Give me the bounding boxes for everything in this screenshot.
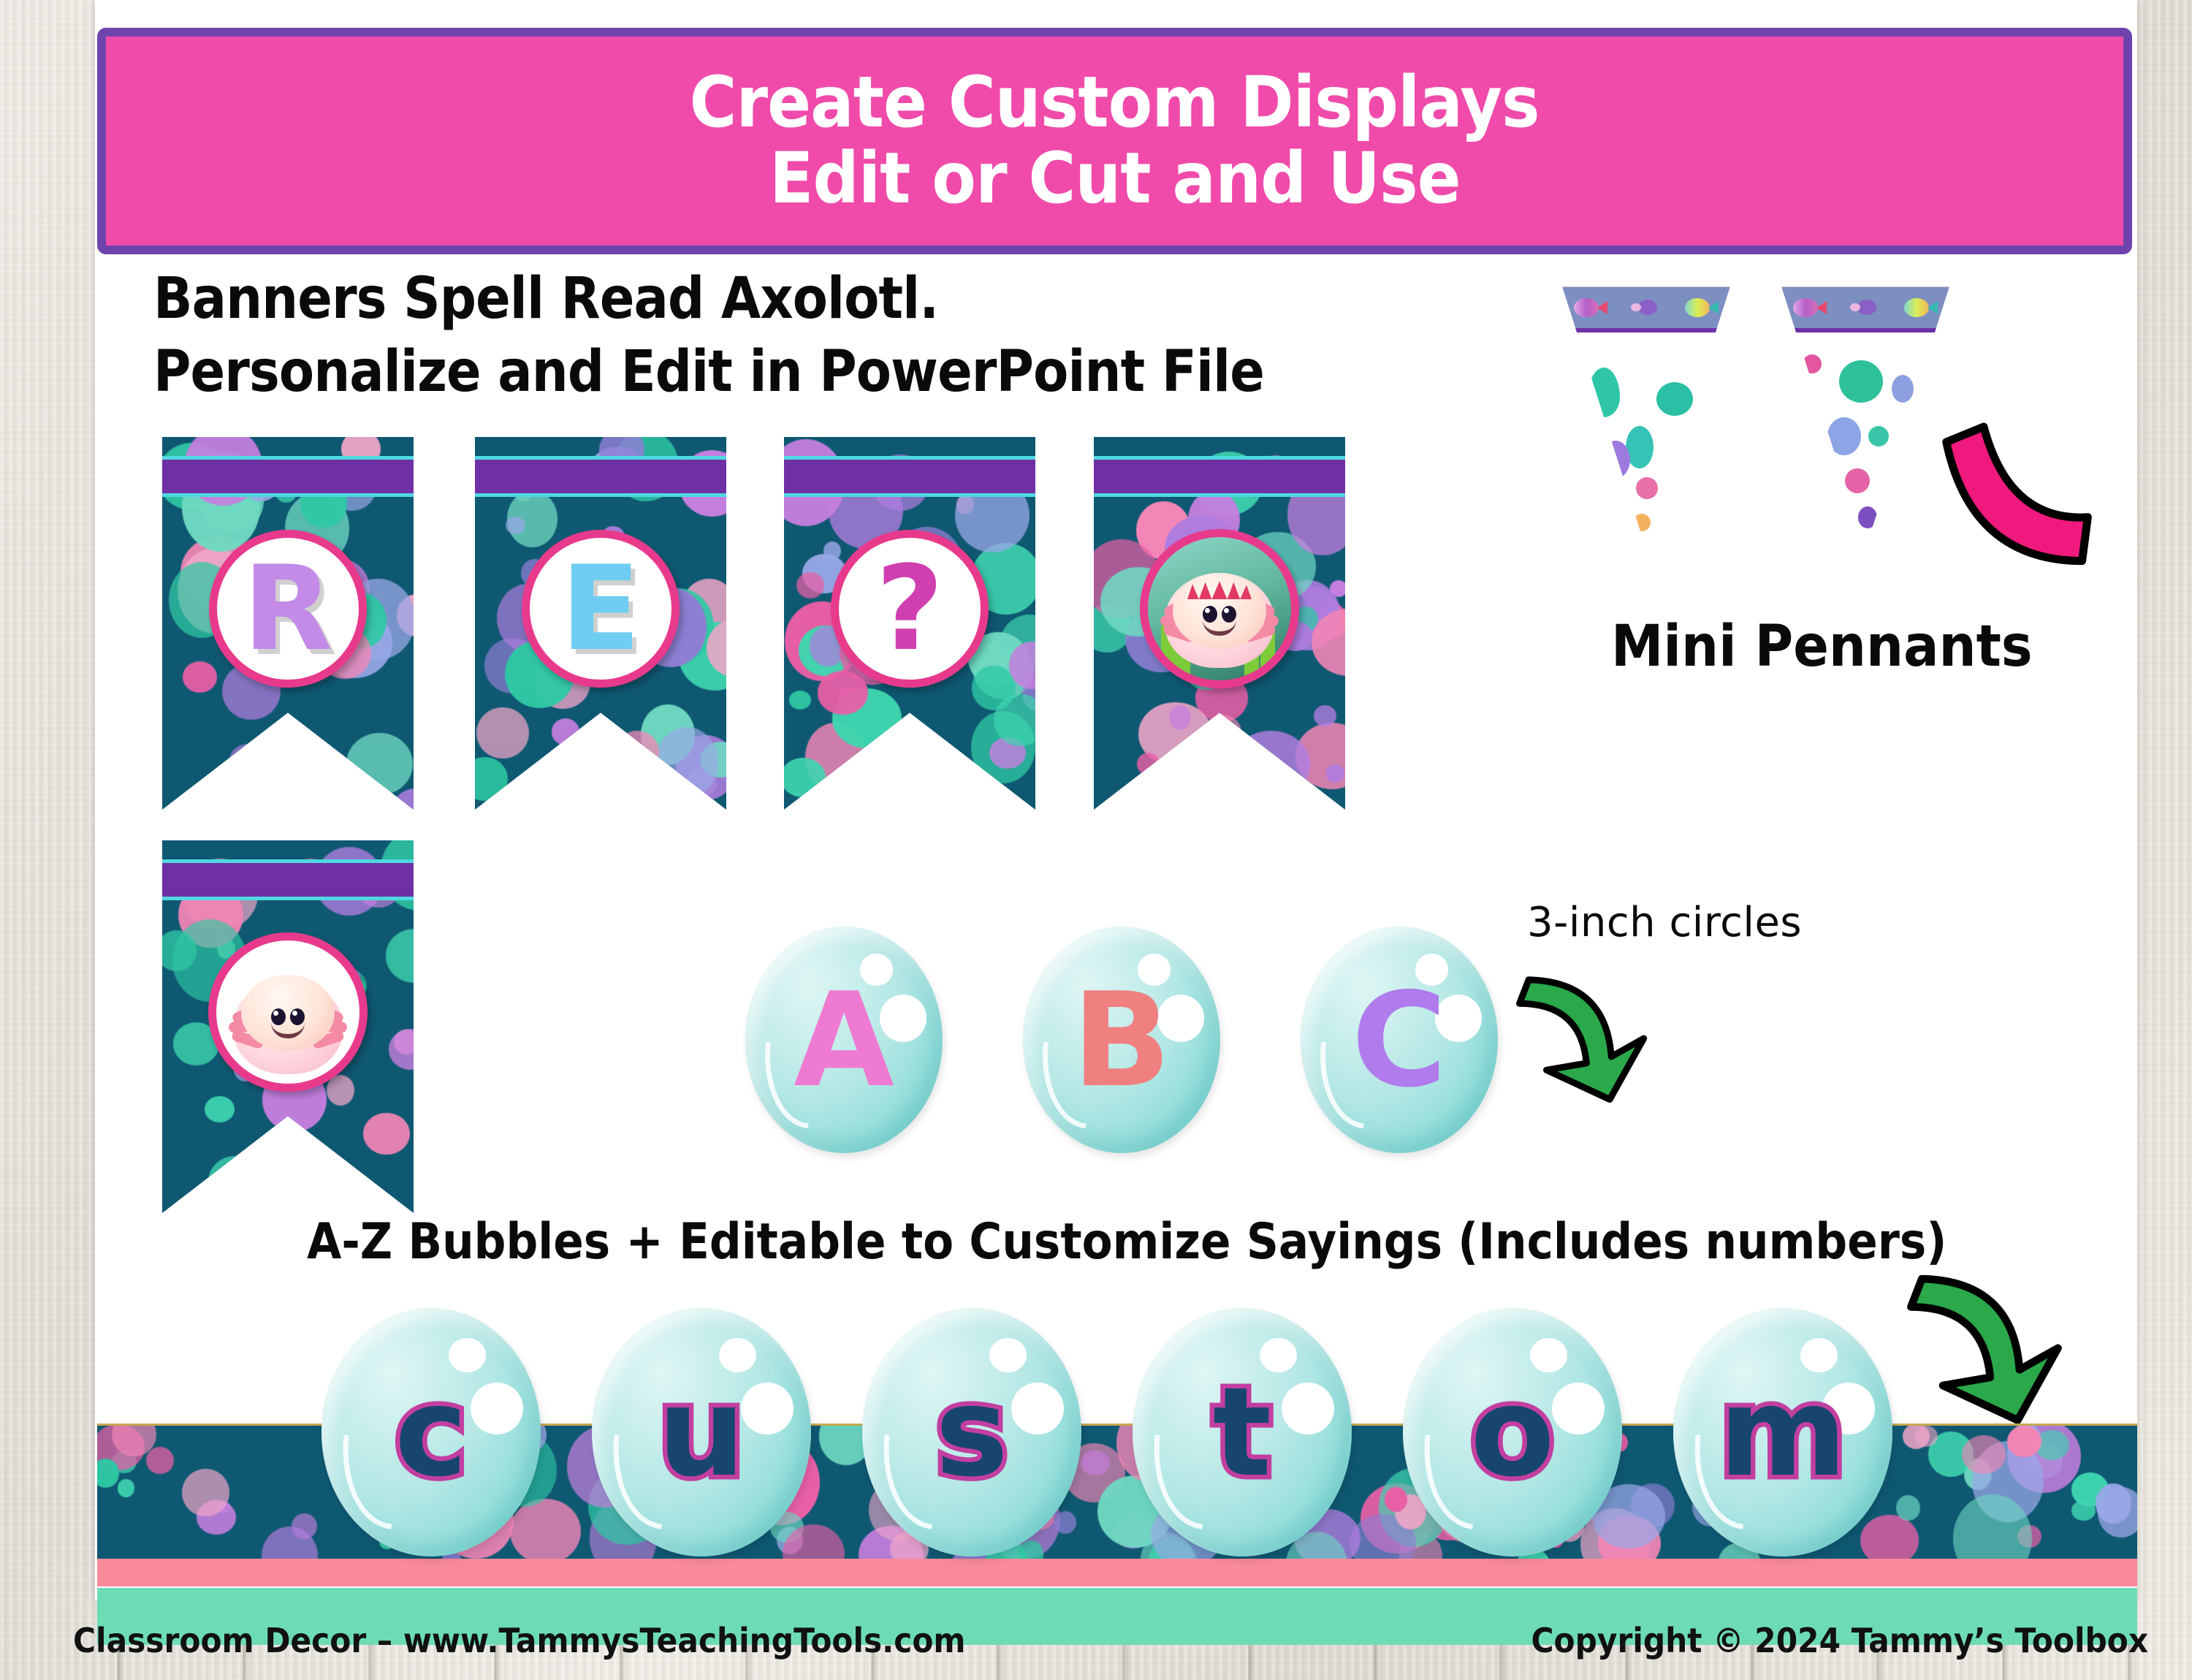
- custom-glyph: c: [395, 1371, 468, 1494]
- header-banner: Create Custom Displays Edit or Cut and U…: [97, 28, 2132, 254]
- flag-top-bar: [475, 456, 726, 497]
- intro-line-2: Personalize and Edit in PowerPoint File: [153, 336, 1403, 409]
- header-title-line-2: Edit or Cut and Use: [769, 141, 1461, 217]
- custom-glyph: m: [1719, 1371, 1846, 1494]
- three-inch-circles-label: 3-inch circles: [1527, 899, 1802, 946]
- custom-glyph: t: [1213, 1371, 1271, 1494]
- fish-icon: [1574, 298, 1607, 317]
- bubble-letter-b: B: [1023, 927, 1220, 1153]
- custom-glyph: u: [658, 1371, 745, 1494]
- footer-right-text: Copyright © 2024 Tammy’s Toolbox: [1531, 1621, 2148, 1660]
- footer-left-text: Classroom Decor – www.TammysTeachingTool…: [73, 1621, 966, 1660]
- intro-line-1: Banners Spell Read Axolotl.: [153, 263, 1403, 336]
- custom-bubble-m: m: [1673, 1308, 1892, 1557]
- intro-text-block: Banners Spell Read Axolotl. Personalize …: [153, 263, 1542, 409]
- custom-glyph: s: [935, 1371, 1008, 1494]
- green-curved-arrow-2: [1907, 1235, 2097, 1425]
- fish-icon: [1793, 298, 1827, 317]
- custom-bubble-o: o: [1403, 1308, 1622, 1557]
- az-bubbles-label: A-Z Bubbles + Editable to Customize Sayi…: [307, 1213, 1946, 1271]
- custom-glyph: o: [1470, 1371, 1554, 1494]
- header-banner-inner: Create Custom Displays Edit or Cut and U…: [106, 37, 2123, 246]
- bubble-letter-c: C: [1301, 927, 1498, 1153]
- flag-top-bar: [162, 456, 414, 497]
- flag-top-bar: [1094, 456, 1345, 497]
- flag-top-bar: [784, 456, 1035, 497]
- bubble-glyph: B: [1072, 965, 1171, 1116]
- custom-bubble-u: u: [592, 1308, 811, 1557]
- pennant-top-band: [1563, 287, 1729, 332]
- axolotl-medallion-plain: [208, 932, 368, 1092]
- flag-glyph: ?: [876, 550, 944, 667]
- fish-icon: [1685, 298, 1719, 317]
- pink-curved-arrow: [1885, 387, 2104, 607]
- mini-pennants-label: Mini Pennants: [1611, 614, 2033, 680]
- flag-medallion: R: [209, 530, 367, 688]
- axolotl-medallion-scene: [1140, 529, 1299, 688]
- bubble-glyph: C: [1352, 965, 1447, 1116]
- turtle-icon: [1629, 298, 1663, 317]
- bottom-pink-stripe: [97, 1559, 2137, 1586]
- flag-top-bar: [162, 859, 414, 900]
- flag-glyph: R: [243, 550, 332, 667]
- bubble-letter-a: A: [745, 927, 943, 1153]
- green-curved-arrow: [1516, 943, 1677, 1103]
- flag-medallion: E: [522, 530, 680, 688]
- bubble-glyph: A: [794, 965, 894, 1116]
- axolotl-body-icon: [233, 979, 343, 1074]
- custom-bubble-c: c: [321, 1308, 541, 1557]
- header-title-line-1: Create Custom Displays: [690, 65, 1540, 141]
- flag-glyph: E: [560, 550, 640, 667]
- fish-icon: [1904, 298, 1938, 317]
- pennant-top-band: [1782, 287, 1949, 332]
- turtle-icon: [1849, 298, 1882, 317]
- custom-bubble-t: t: [1133, 1308, 1352, 1557]
- custom-bubble-s: s: [862, 1308, 1081, 1557]
- axolotl-body-icon: [1165, 573, 1274, 668]
- flag-medallion: ?: [831, 530, 989, 688]
